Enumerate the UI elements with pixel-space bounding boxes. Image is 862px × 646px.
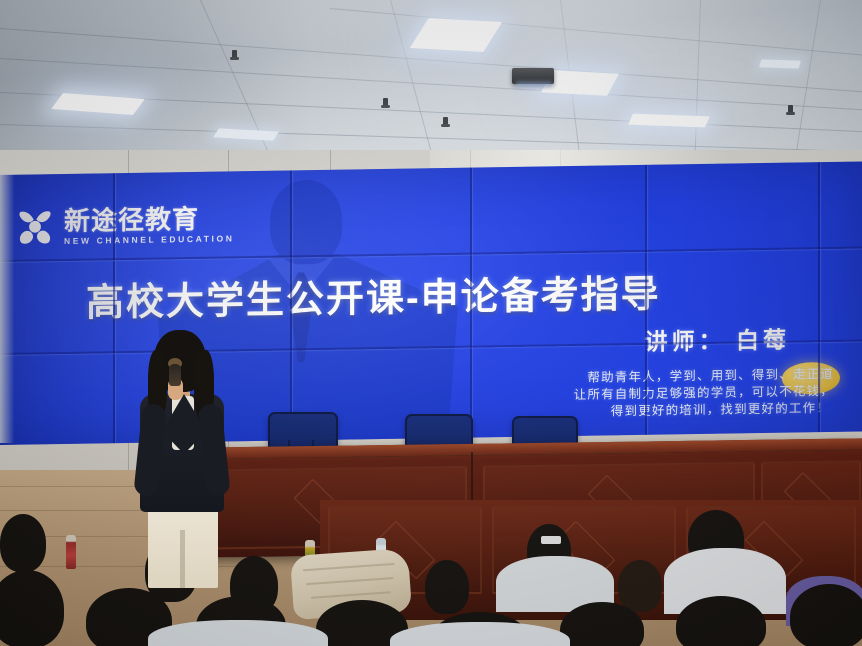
sprinkler-head (383, 98, 388, 107)
audience-head (790, 584, 862, 646)
sprinkler-head (443, 117, 448, 126)
audience-head (425, 560, 469, 614)
microphone (169, 364, 181, 386)
audience-head (618, 560, 662, 612)
screen-left-edge (0, 175, 14, 443)
sprinkler-head (232, 50, 237, 59)
water-bottle (66, 535, 76, 569)
ceiling-light-panel (759, 59, 801, 68)
sprinkler-head (788, 105, 793, 114)
hair-clip (541, 536, 561, 544)
lecture-hall-photo: 新途径教育 NEW CHANNEL EDUCATION 高校大学生公开课-申论备… (0, 0, 862, 646)
front-seat-back (148, 620, 328, 646)
audience-head (0, 514, 46, 572)
